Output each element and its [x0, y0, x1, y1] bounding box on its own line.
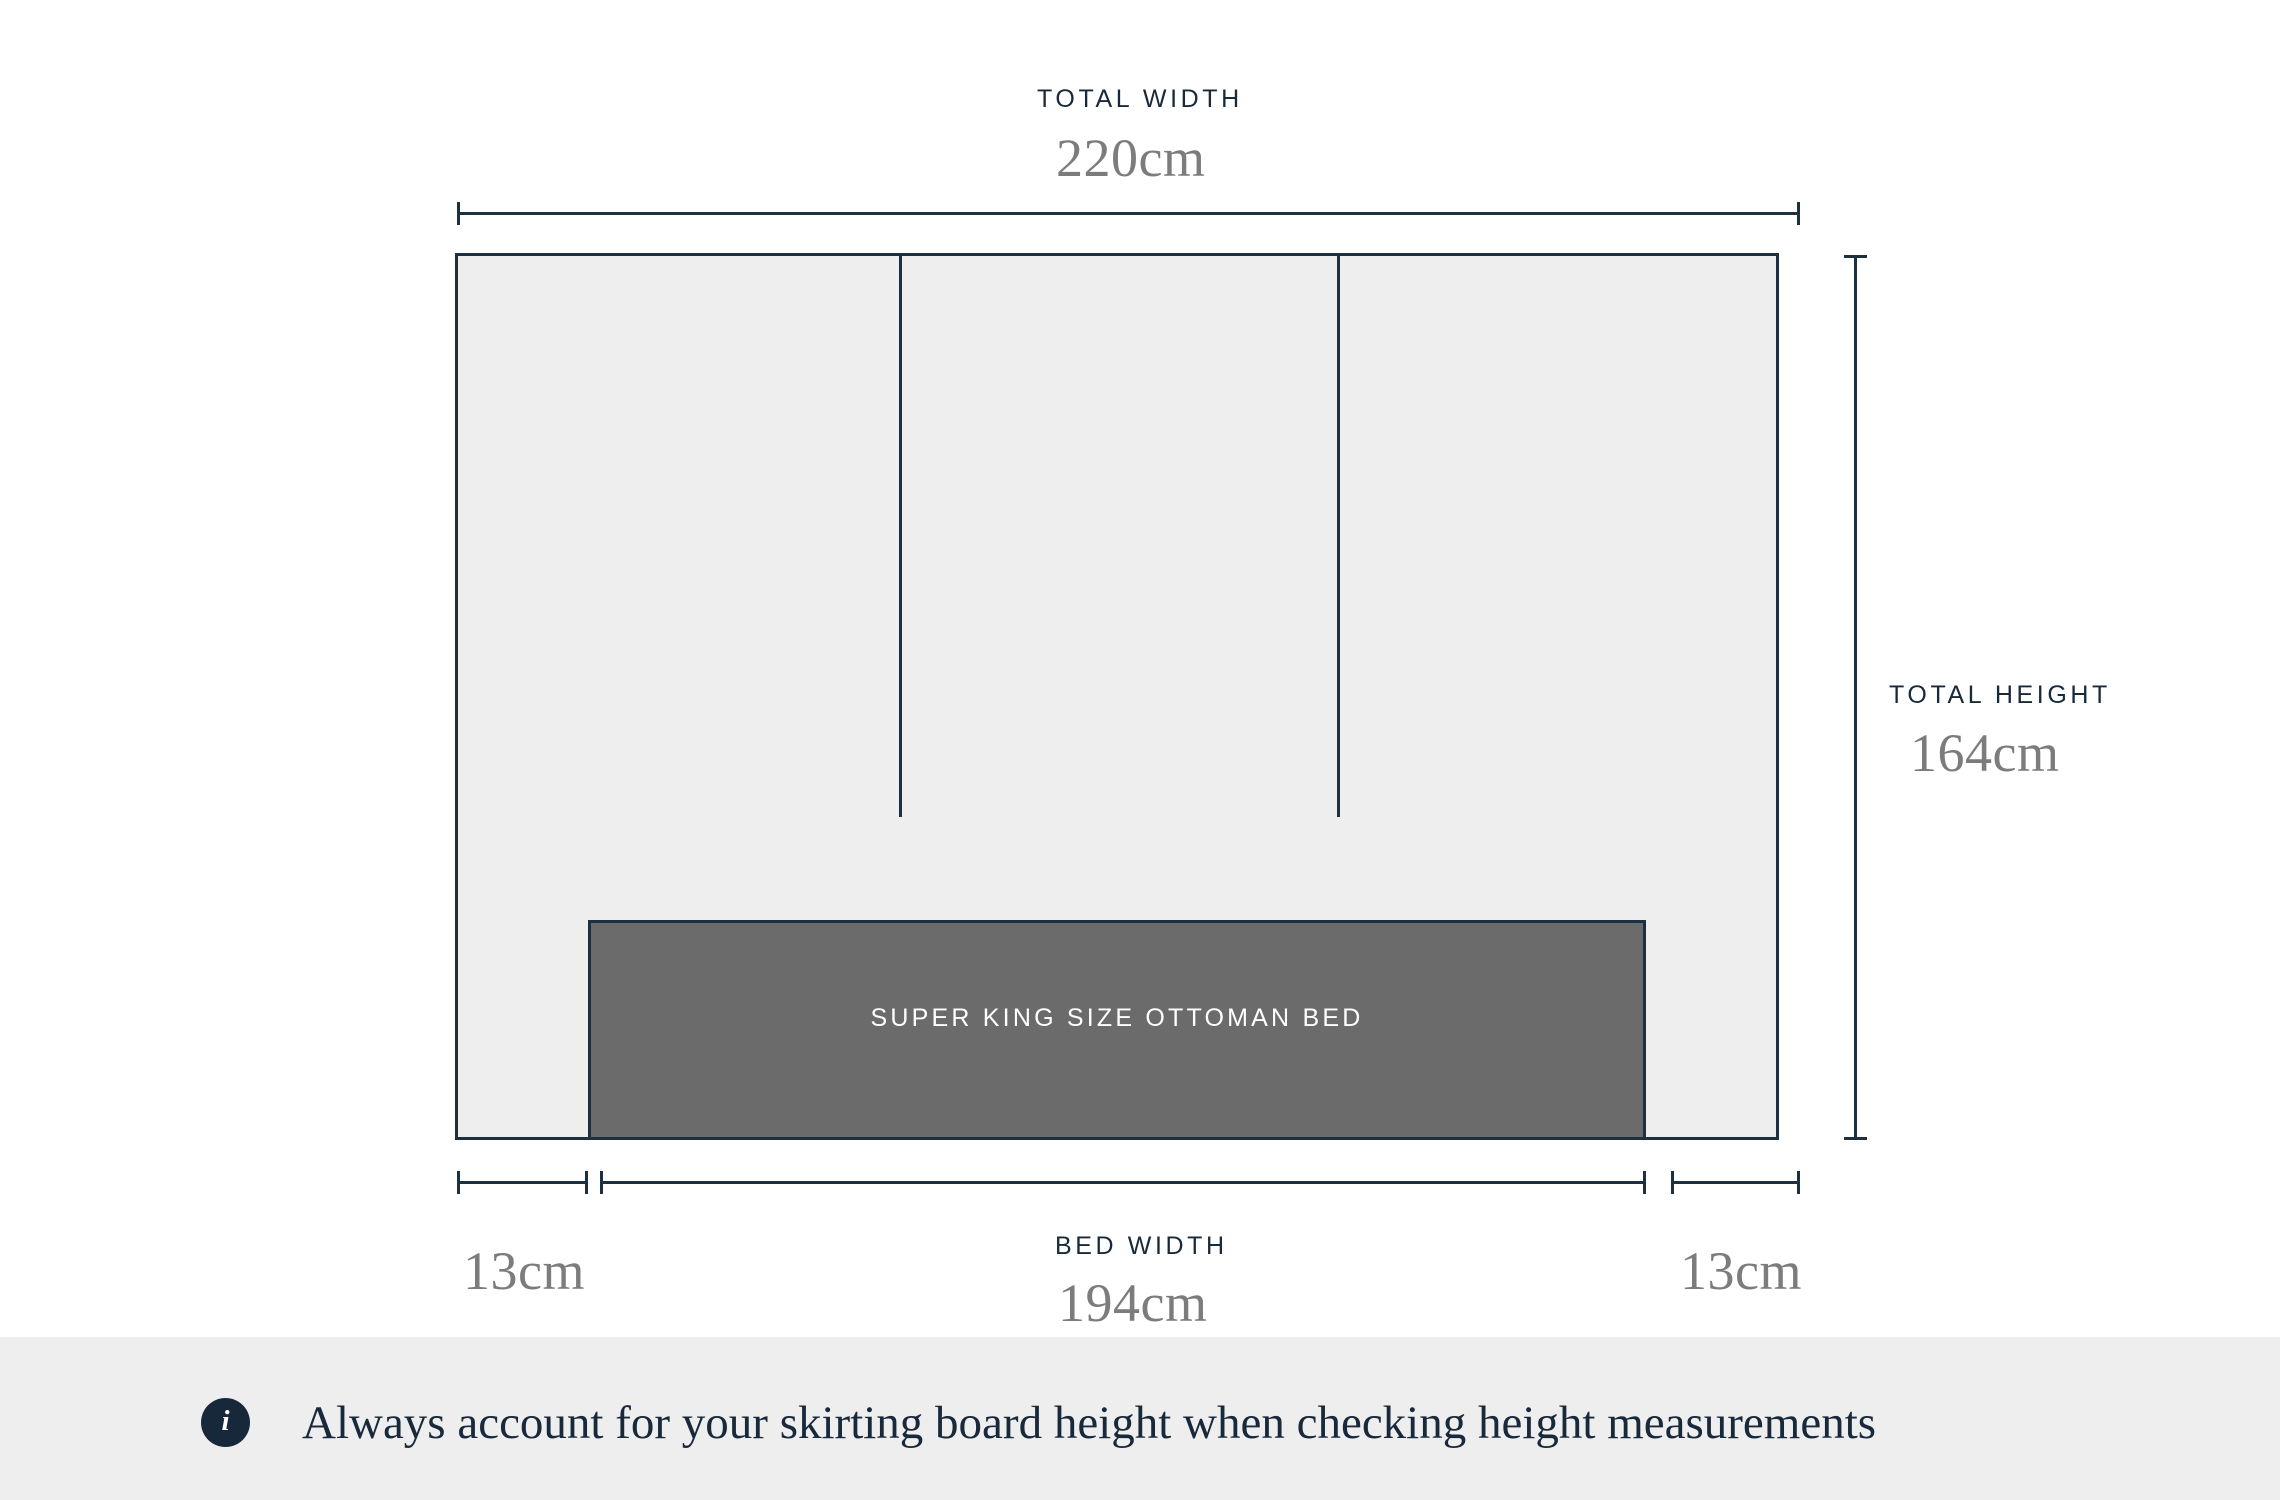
dimension-cap-bottom	[1844, 1137, 1867, 1140]
dimension-cap-right	[585, 1171, 588, 1194]
dimension-cap-right	[1797, 202, 1800, 225]
right-gap-value: 13cm	[1680, 1240, 1802, 1302]
left-gap-value: 13cm	[463, 1240, 585, 1302]
total-height-value: 164cm	[1910, 722, 2059, 784]
dimension-cap-left	[600, 1171, 603, 1194]
left-gap-dimension-line	[457, 1181, 588, 1184]
bed-width-label: BED WIDTH	[1055, 1232, 1228, 1261]
dimension-cap-left	[1671, 1171, 1674, 1194]
dimension-cap-top	[1844, 255, 1867, 258]
bed-width-value: 194cm	[1058, 1272, 1207, 1334]
total-height-dimension-line	[1854, 255, 1857, 1140]
bed-block: SUPER KING SIZE OTTOMAN BED	[588, 920, 1646, 1140]
info-icon-glyph: i	[221, 1407, 229, 1436]
bed-block-label: SUPER KING SIZE OTTOMAN BED	[871, 1004, 1364, 1033]
total-width-dimension-line	[457, 212, 1800, 215]
dimension-cap-right	[1797, 1171, 1800, 1194]
dimension-diagram: TOTAL WIDTH 220cm SUPER KING SIZE OTTOMA…	[0, 0, 2280, 1500]
panel-divider-left	[899, 256, 902, 817]
total-width-label: TOTAL WIDTH	[1037, 85, 1243, 114]
dimension-cap-left	[457, 202, 460, 225]
notice-text: Always account for your skirting board h…	[302, 1398, 1876, 1448]
right-gap-dimension-line	[1671, 1181, 1800, 1184]
info-icon: i	[201, 1398, 250, 1447]
bed-width-dimension-line	[600, 1181, 1646, 1184]
total-height-label: TOTAL HEIGHT	[1889, 681, 2111, 710]
dimension-cap-right	[1643, 1171, 1646, 1194]
total-width-value: 220cm	[1056, 127, 1205, 189]
panel-divider-right	[1337, 256, 1340, 817]
dimension-cap-left	[457, 1171, 460, 1194]
